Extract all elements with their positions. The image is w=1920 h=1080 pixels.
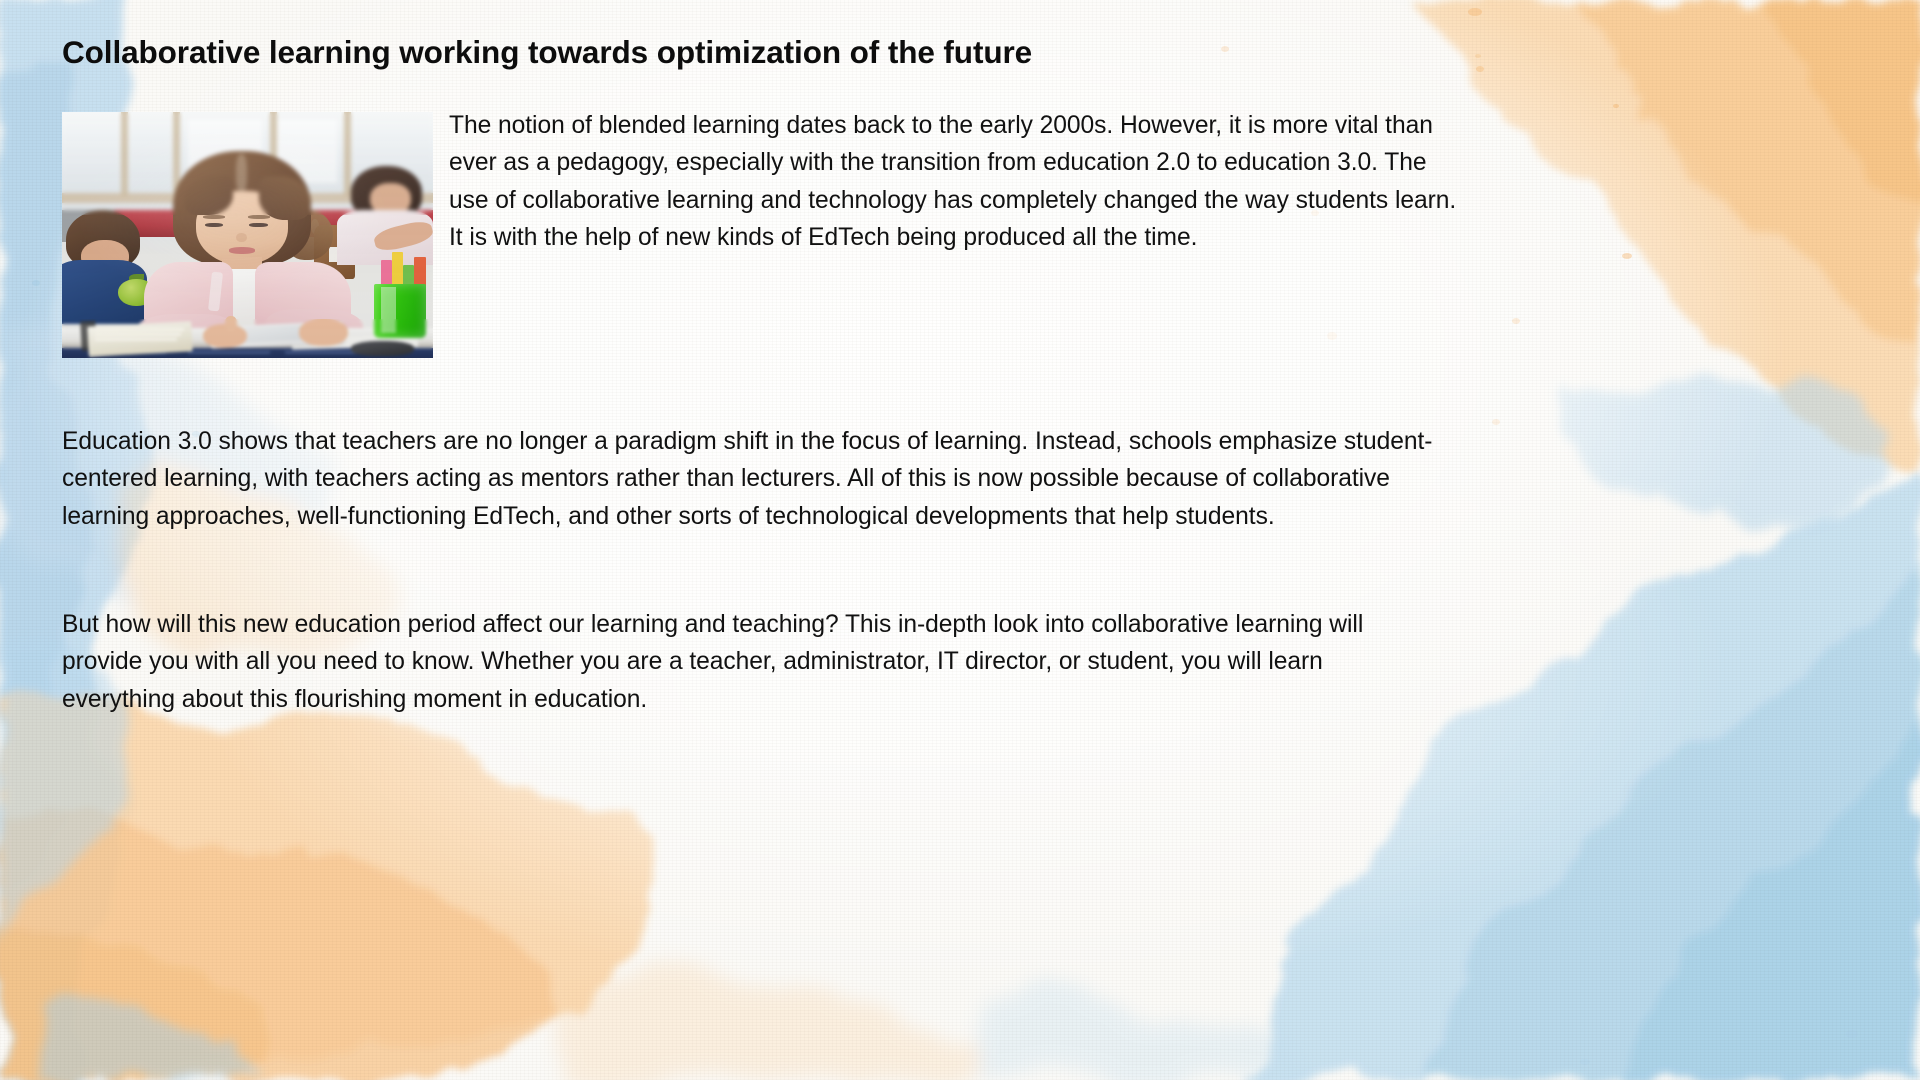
intro-paragraph: The notion of blended learning dates bac… (449, 107, 1461, 257)
outlook-paragraph: But how will this new education period a… (62, 606, 1432, 718)
education-paragraph: Education 3.0 shows that teachers are no… (62, 423, 1462, 535)
photo-lighting-overlay (62, 112, 433, 358)
page-title: Collaborative learning working towards o… (62, 34, 1462, 71)
slide-content: Collaborative learning working towards o… (0, 0, 1920, 1080)
classroom-photo (62, 112, 433, 358)
